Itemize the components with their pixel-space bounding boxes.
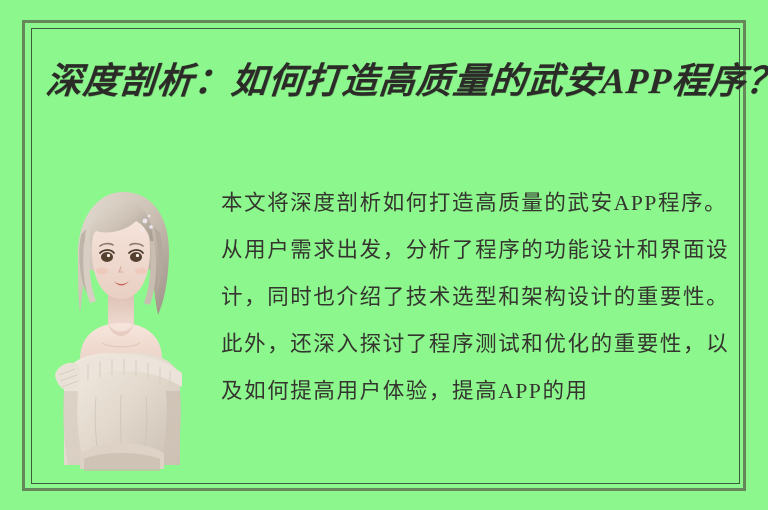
- article-summary: 本文将深度剖析如何打造高质量的武安APP程序。从用户需求出发，分析了程序的功能设…: [221, 180, 740, 470]
- article-card: 深度剖析：如何打造高质量的武安APP程序？: [0, 0, 768, 510]
- woman-portrait-icon: [50, 183, 192, 473]
- article-title: 深度剖析：如何打造高质量的武安APP程序？: [44, 58, 768, 105]
- article-illustration: [50, 183, 192, 473]
